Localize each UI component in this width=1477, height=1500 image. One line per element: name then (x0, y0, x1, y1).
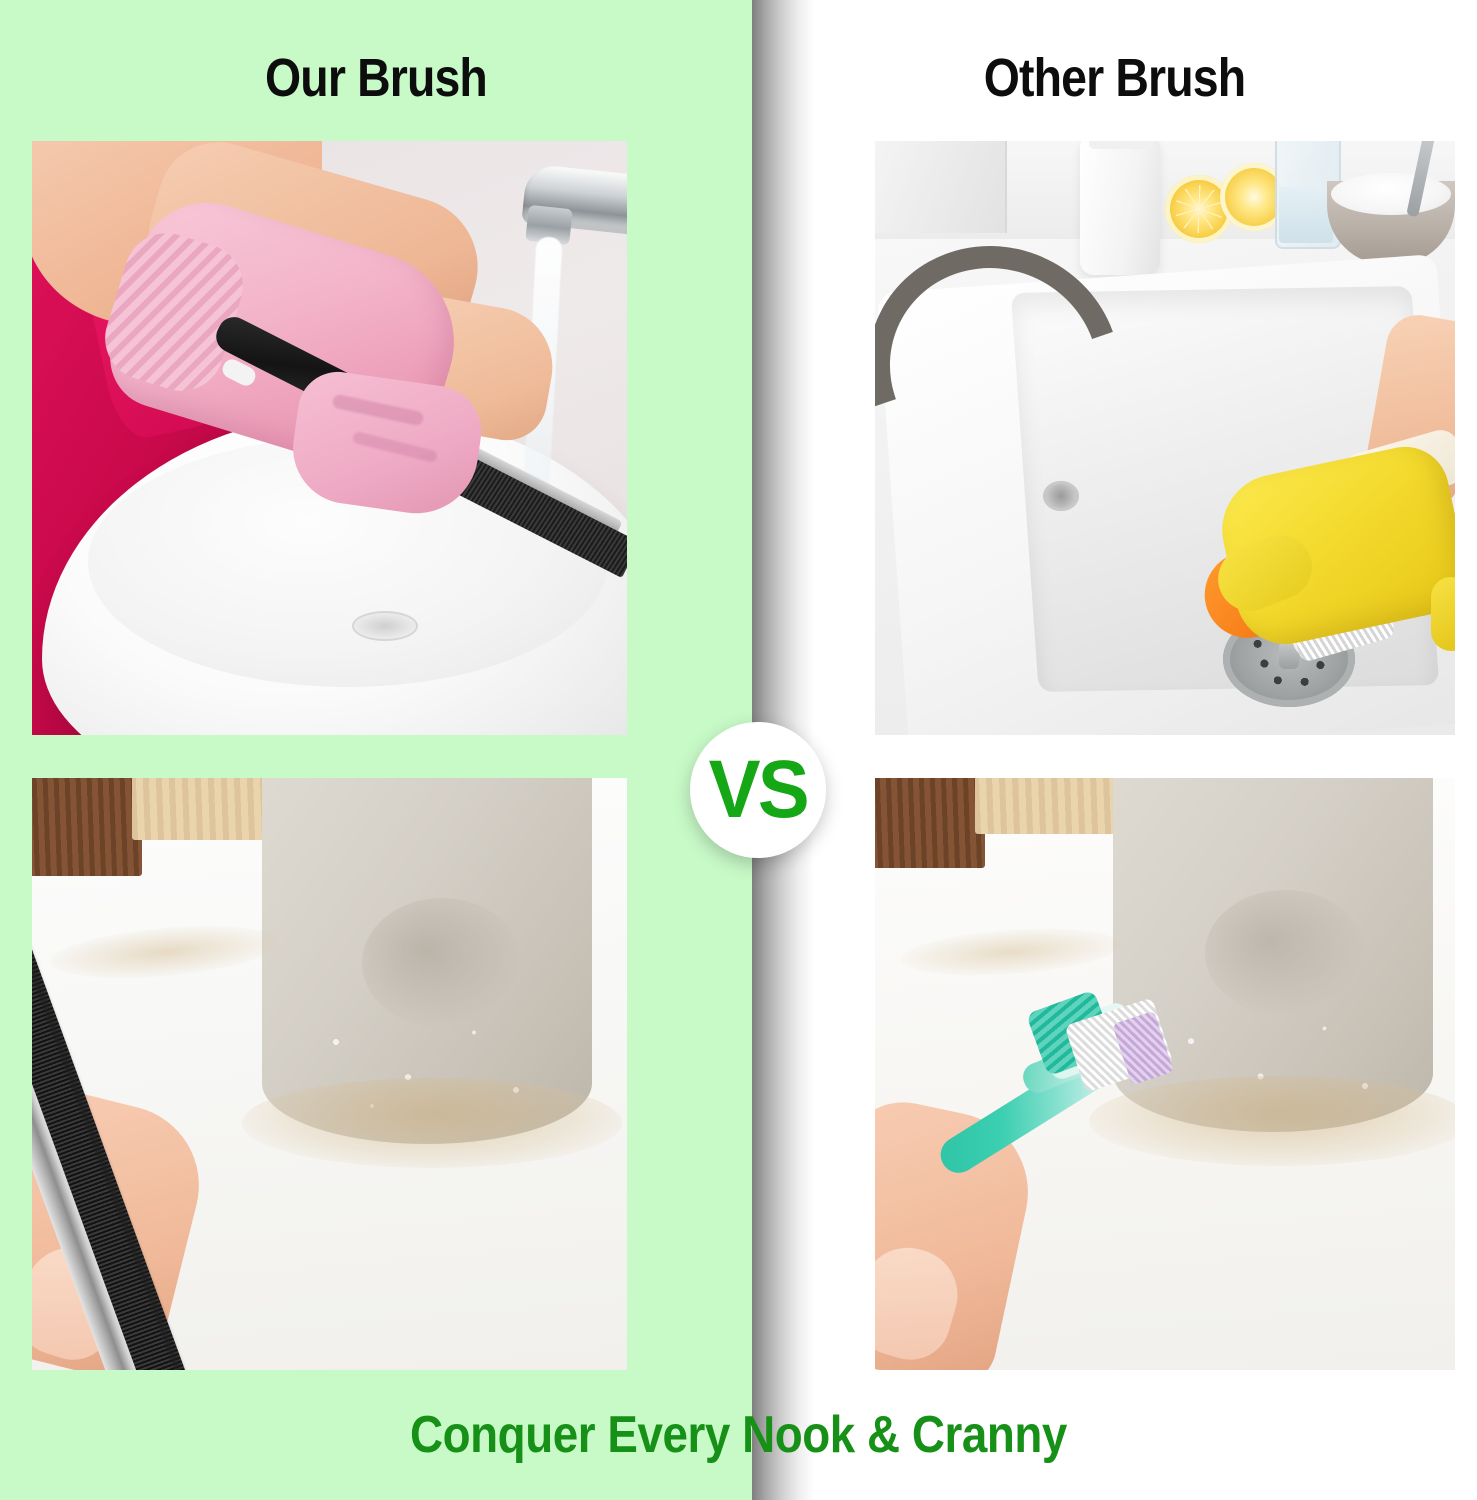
sink-drain (352, 611, 418, 641)
lemon-segments (1175, 185, 1223, 233)
grime-ring (242, 1078, 622, 1168)
glove-edge (1431, 577, 1455, 651)
other-brush-heading: Other Brush (803, 46, 1427, 110)
comparison-infographic: Our Brush Other Brush (0, 0, 1477, 1500)
scene-other-brush-closeup (875, 778, 1455, 1370)
photo-other-brush-closeup (875, 778, 1455, 1370)
wood-block-dark (875, 778, 985, 868)
baking-soda (1331, 173, 1451, 215)
scene-our-brush-closeup (32, 778, 627, 1370)
cabinet-edge (875, 141, 1007, 233)
photo-our-brush-closeup (32, 778, 627, 1370)
scene-other-brush-sink (875, 141, 1455, 735)
photo-other-brush-sink (875, 141, 1455, 735)
scene-our-brush-sink (32, 141, 627, 735)
our-brush-heading: Our Brush (53, 46, 700, 110)
glass-water (1279, 187, 1333, 243)
grime-ring (1089, 1076, 1455, 1166)
photo-our-brush-sink (32, 141, 627, 735)
vs-badge: VS (690, 722, 826, 858)
vs-label: VS (709, 749, 807, 831)
soap-bottle-cap (1089, 141, 1151, 149)
wood-block-dark (32, 778, 142, 876)
bottom-caption: Conquer Every Nook & Cranny (89, 1404, 1389, 1466)
secondary-drain (1043, 481, 1079, 511)
soap-bottle (1080, 141, 1160, 275)
